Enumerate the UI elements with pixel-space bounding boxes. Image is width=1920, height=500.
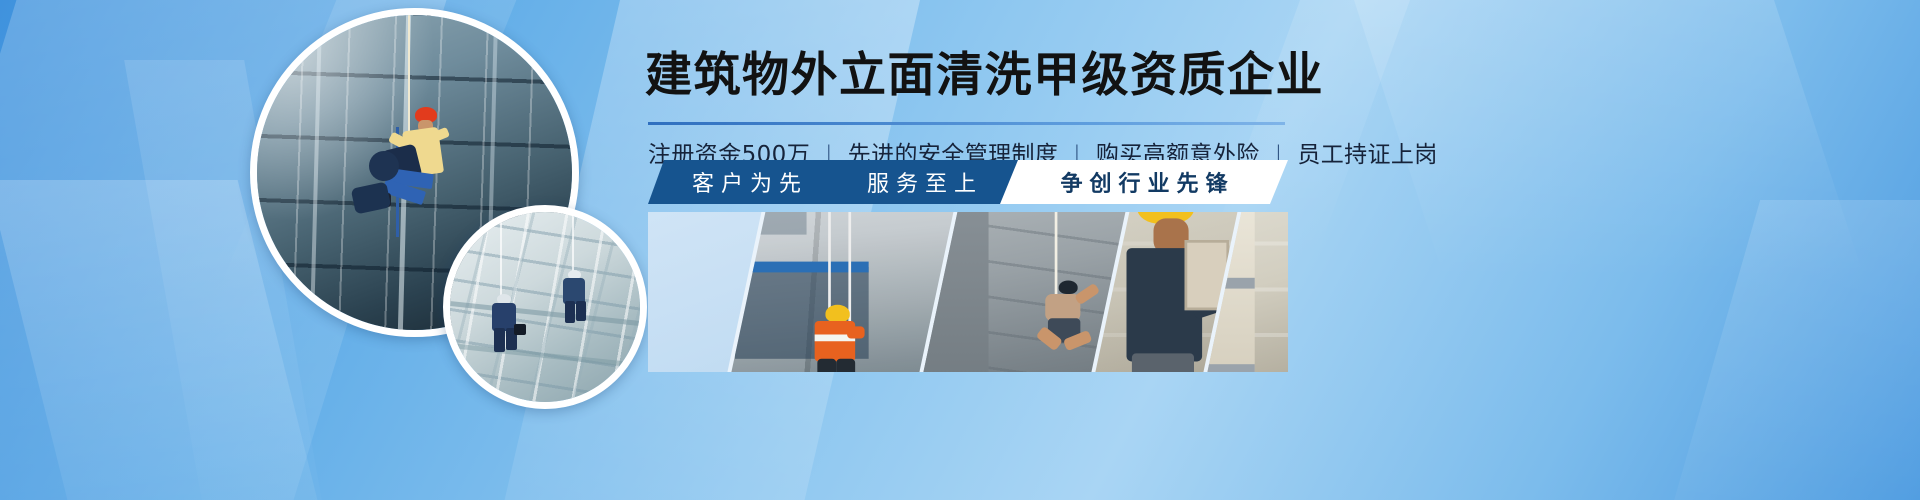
background-shape	[1640, 200, 1920, 500]
slogan-primary-2: 服务至上	[860, 166, 983, 198]
headline-underline	[648, 122, 1285, 125]
slogan-primary-1: 客户为先	[685, 166, 808, 198]
subtitle-part: 员工持证上岗	[1297, 142, 1437, 168]
photo-two-workers-on-building-facade	[450, 212, 640, 402]
circle-photo-small	[443, 205, 647, 409]
promo-banner: 建筑物外立面清洗甲级资质企业 注册资金500万 | 先进的安全管理制度 | 购买…	[0, 0, 1920, 500]
slogan-bar-primary: 客户为先 服务至上	[648, 160, 1020, 204]
slogan-bar: 客户为先 服务至上 争创行业先锋	[648, 160, 1288, 204]
slogan-highlight-text: 争创行业先锋	[1053, 166, 1234, 198]
photo-collage	[648, 212, 1288, 372]
slogan-badge-highlight: 争创行业先锋	[1000, 160, 1288, 204]
banner-headline: 建筑物外立面清洗甲级资质企业	[645, 52, 1324, 99]
